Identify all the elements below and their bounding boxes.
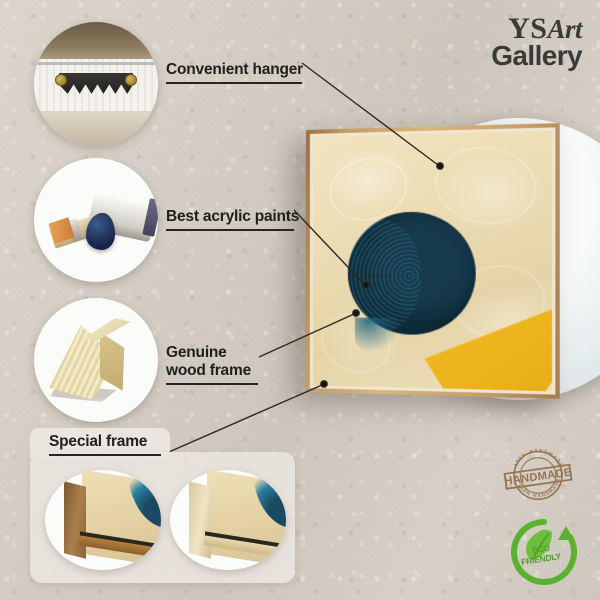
eco-friendly-badge: ECO FRIENDLY — [508, 516, 574, 582]
blue-drip-accent — [355, 318, 400, 353]
feature-label-paints-text: Best acrylic paints — [166, 208, 299, 225]
feature-inset-hanger — [34, 22, 158, 146]
painting-canvas-face — [313, 131, 552, 392]
feature-inset-paints — [34, 158, 158, 282]
hanger-wall-shadow — [34, 22, 158, 64]
poster-canvas: YSArt Gallery — [0, 0, 600, 600]
artwork-hero — [300, 112, 590, 412]
brushstroke-swirl — [428, 139, 543, 232]
handmade-banner: HANDMADE — [503, 465, 572, 489]
frame-option-natural-oak[interactable] — [170, 470, 286, 570]
special-frame-label: Special frame — [49, 433, 147, 451]
frame-option-edge — [189, 481, 211, 558]
feature-label-wood-frame: Genuine wood frame — [166, 326, 258, 403]
hanger-board-edge — [34, 62, 158, 65]
brand-logo: YSArt Gallery — [491, 14, 582, 70]
feature-label-hanger: Convenient hanger — [166, 43, 303, 102]
handmade-stamp-badge: 100% HANDMADE 100% HANDMADE HANDMADE — [497, 444, 579, 500]
feature-label-underline — [166, 383, 258, 385]
frame-option-walnut[interactable] — [45, 470, 161, 570]
frame-option-edge — [64, 481, 86, 558]
feature-label-paints: Best acrylic paints — [166, 190, 299, 249]
brand-logo-gallery: Gallery — [491, 42, 582, 70]
feature-label-underline — [166, 229, 294, 231]
feature-label-wood-frame-text: Genuine wood frame — [166, 344, 251, 379]
wood-block-side — [100, 328, 141, 395]
feature-label-hanger-text: Convenient hanger — [166, 61, 303, 78]
feature-inset-wood — [34, 298, 158, 422]
special-frame-label-underline — [49, 454, 161, 456]
blue-paint-blob-icon — [86, 213, 115, 250]
eco-arrow-head — [558, 526, 574, 540]
frame-option-blue-accent — [253, 470, 286, 528]
feature-label-underline — [166, 82, 302, 84]
hanger-lower-surface — [34, 111, 158, 146]
brass-screw-icon — [125, 74, 137, 86]
frame-option-blue-accent — [128, 470, 161, 528]
framed-painting — [306, 123, 560, 399]
